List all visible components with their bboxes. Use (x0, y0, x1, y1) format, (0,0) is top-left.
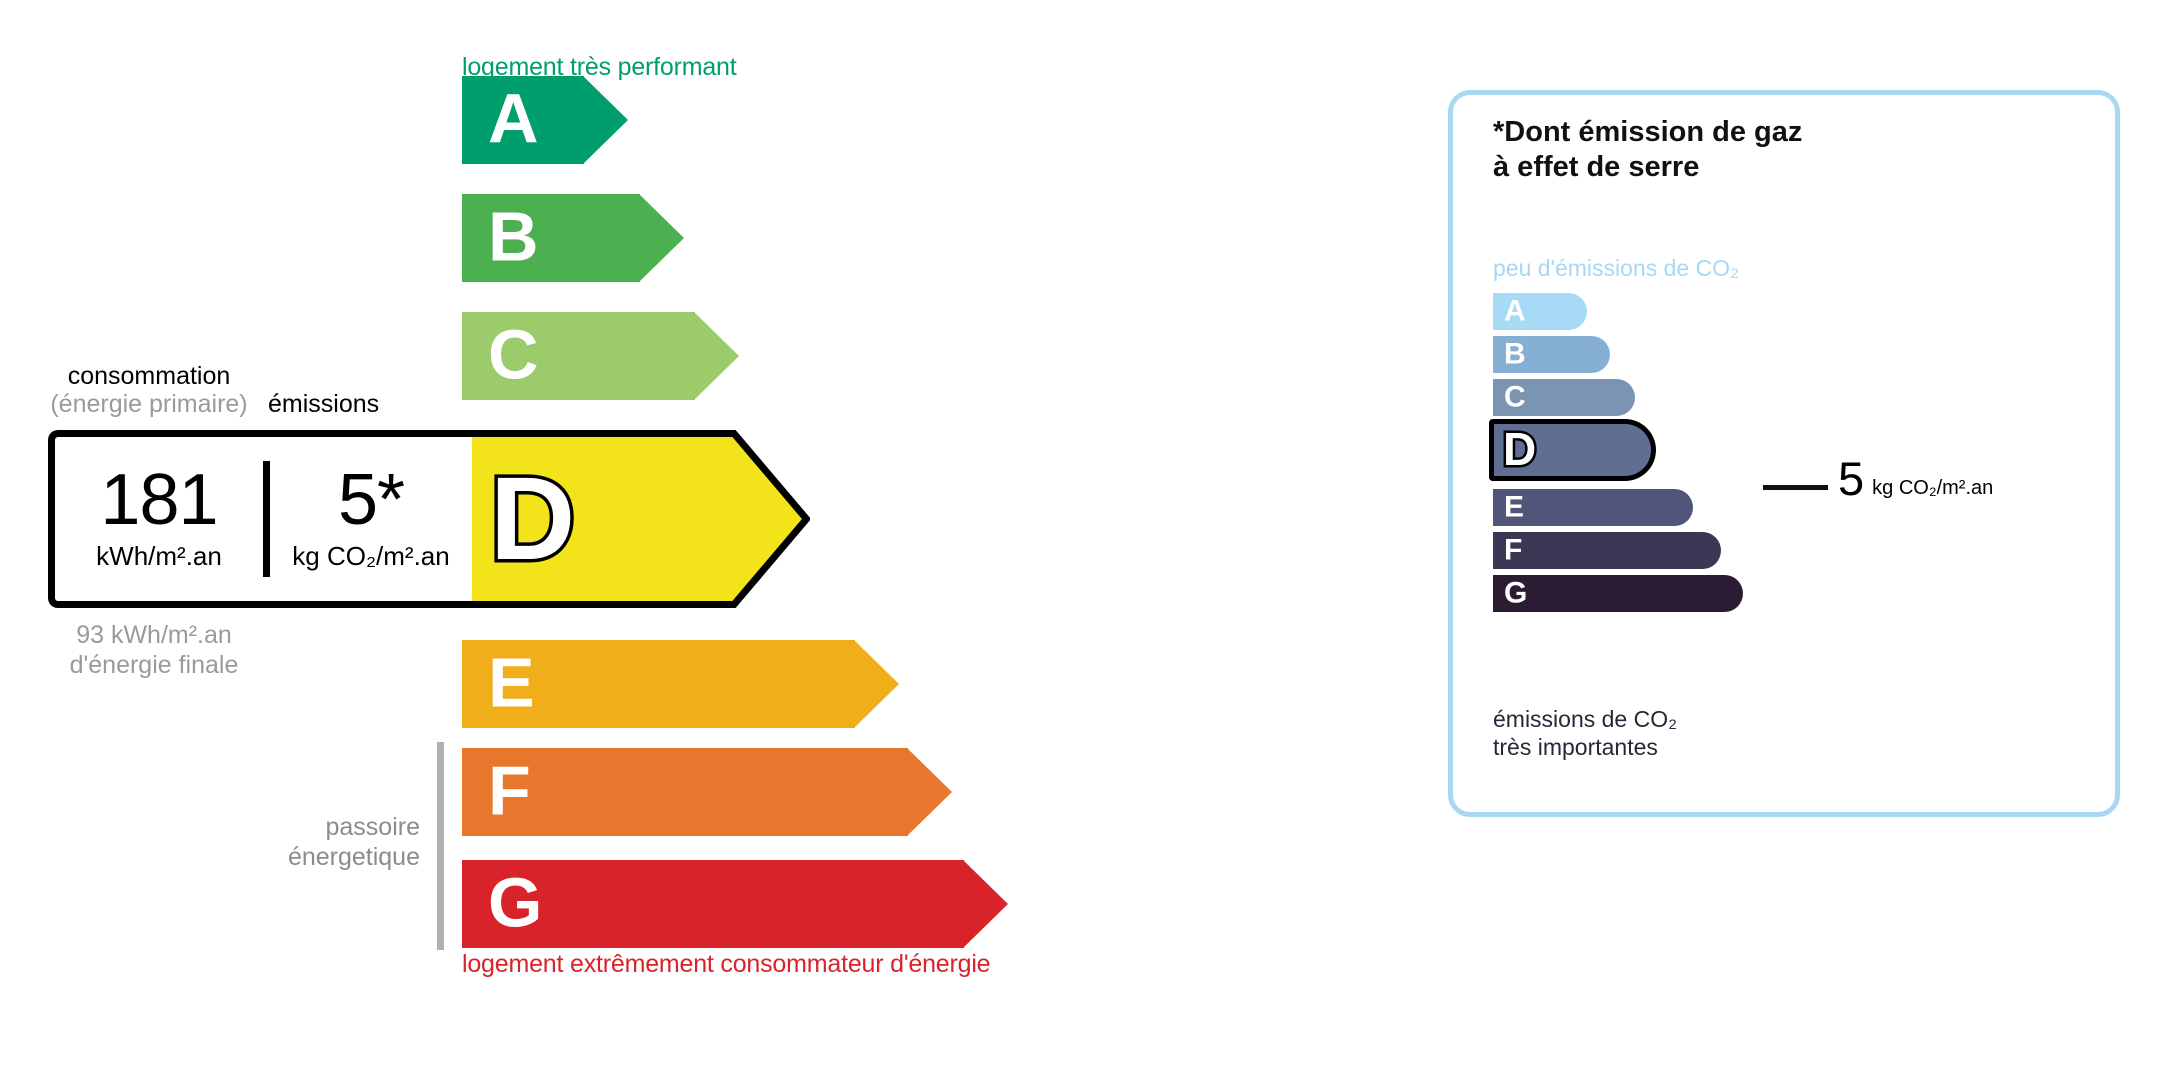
co2-class-letter-d: D (1503, 426, 1536, 472)
energy-class-letter-d: D (490, 460, 575, 578)
co2-panel-title: *Dont émission de gaz à effet de serre (1493, 115, 1802, 185)
energy-arrow-b: B (462, 194, 684, 282)
consumption-value: 181 (100, 466, 217, 534)
energy-class-letter-e: E (488, 648, 535, 718)
emissions-readout: 5* kg CO₂/m².an (270, 437, 472, 601)
co2-leader-line (1763, 485, 1828, 490)
energy-class-letter-a: A (488, 84, 539, 154)
co2-class-letter-e: E (1504, 492, 1524, 522)
co2-class-letter-g: G (1504, 578, 1527, 608)
energy-arrow-g: G (462, 860, 1008, 948)
passoire-energetique-note: passoire énergetique (190, 812, 420, 872)
arrow-tip-icon (854, 640, 899, 728)
co2-class-letter-b: B (1504, 339, 1526, 369)
consumption-unit: kWh/m².an (96, 541, 222, 572)
co2-value: 5 (1838, 455, 1864, 502)
emissions-unit: kg CO₂/m².an (292, 541, 449, 572)
co2-bar-g-fill (1493, 575, 1743, 612)
value-readout-box: 181 kWh/m².an 5* kg CO₂/m².an (48, 430, 472, 608)
emissions-label: émissions (268, 390, 379, 419)
co2-class-letter-a: A (1504, 296, 1526, 326)
consumption-label-main: consommation (68, 362, 231, 390)
co2-unit: kg CO₂/m².an (1872, 478, 1993, 502)
co2-class-bar-b: B (1493, 336, 1610, 373)
arrow-tip-icon (583, 76, 628, 164)
energy-consumption-scale: logement très performant A B (0, 0, 1420, 1079)
energy-class-bar-g: G (462, 860, 1008, 948)
emissions-value: 5* (338, 466, 404, 534)
co2-class-letter-f: F (1504, 535, 1522, 565)
energy-class-letter-f: F (488, 756, 531, 826)
energy-class-bar-b: B (462, 194, 684, 282)
energy-scale-bottom-caption: logement extrêmement consommateur d'éner… (462, 950, 990, 979)
energy-class-letter-b: B (488, 202, 539, 272)
energy-class-letter-g: G (488, 868, 542, 938)
energy-class-bar-a: A (462, 76, 628, 164)
co2-class-bar-d-selected: D (1489, 419, 1656, 481)
arrow-tip-icon (639, 194, 684, 282)
energy-arrow-c: C (462, 312, 739, 400)
energy-arrow-e: E (462, 640, 899, 728)
co2-class-bar-a: A (1493, 293, 1587, 330)
arrow-tip-icon (907, 748, 952, 836)
energy-arrow-a: A (462, 76, 628, 164)
energy-arrow-f: F (462, 748, 952, 836)
co2-class-bar-f: F (1493, 532, 1721, 569)
passoire-bracket-rule (437, 742, 444, 950)
co2-class-bar-e: E (1493, 489, 1693, 526)
final-energy-note: 93 kWh/m².an d'énergie finale (44, 620, 264, 680)
arrow-tip-icon (963, 860, 1008, 948)
dpe-diagram: logement très performant A B (0, 0, 2169, 1079)
consumption-readout: 181 kWh/m².an (55, 437, 263, 601)
energy-class-bar-d-selected: D (462, 430, 810, 608)
co2-value-readout: 5 kg CO₂/m².an (1838, 455, 1993, 502)
energy-class-bar-f: F (462, 748, 952, 836)
arrow-tip-icon (694, 312, 739, 400)
energy-class-bar-e: E (462, 640, 899, 728)
co2-emissions-panel: *Dont émission de gaz à effet de serre p… (1448, 90, 2120, 817)
consumption-label-sub: (énergie primaire) (44, 390, 254, 418)
consumption-label: consommation (énergie primaire) (44, 362, 254, 418)
co2-class-bar-g: G (1493, 575, 1743, 612)
co2-scale-top-caption: peu d'émissions de CO₂ (1493, 255, 1739, 282)
energy-class-letter-c: C (488, 320, 539, 390)
energy-class-bar-c: C (462, 312, 739, 400)
readout-divider (263, 461, 270, 577)
co2-bar-f-fill (1493, 532, 1721, 569)
co2-class-letter-c: C (1504, 382, 1526, 412)
co2-class-bar-c: C (1493, 379, 1635, 416)
co2-scale-bottom-caption: émissions de CO₂ très importantes (1493, 705, 1677, 761)
